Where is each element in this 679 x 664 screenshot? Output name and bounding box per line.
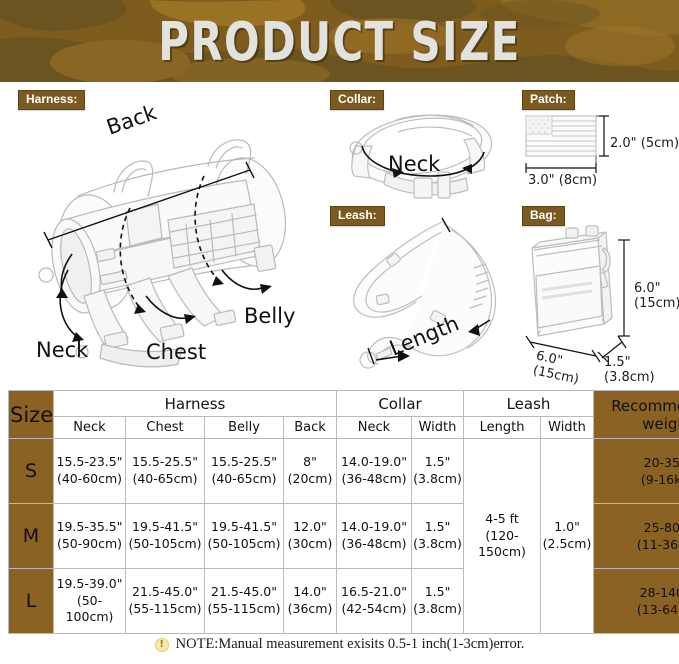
value-line1: 21.5-45.0" — [211, 584, 277, 599]
cell-leash-length: 4-5 ft (120-150cm) — [464, 439, 541, 634]
diagram-area: Harness: — [0, 82, 679, 385]
cell-l-harness-back: 14.0" (36cm) — [284, 569, 337, 634]
table-group-header-row: Size Harness Collar Leash Recommended we… — [9, 391, 679, 417]
value-line1: 1.5" — [425, 454, 451, 469]
cell-m-harness-chest: 19.5-41.5" (50-105cm) — [126, 504, 205, 569]
cell-m-collar-neck: 14.0-19.0" (36-48cm) — [337, 504, 412, 569]
value-line1: 14.0" — [293, 584, 327, 599]
value-line2: (20cm) — [288, 471, 333, 486]
collar-neck-callout: Neck — [388, 152, 440, 176]
cell-m-weight: 25-80lb (11-36kg) — [594, 504, 679, 569]
cell-s-harness-belly: 15.5-25.5" (40-65cm) — [205, 439, 284, 504]
patch-panel: Patch: — [522, 90, 674, 200]
weight-header-line2: weight — [642, 415, 679, 433]
page-header: PRODUCT SIZE — [0, 0, 679, 82]
bag-depth-dim: 1.5" (3.8cm) — [604, 356, 655, 386]
bag-depth-line2: (3.8cm) — [604, 370, 655, 385]
subheader-harness-back: Back — [284, 417, 337, 439]
cell-m-harness-back: 12.0" (30cm) — [284, 504, 337, 569]
bag-height-line1: 6.0" — [634, 281, 661, 296]
value-line2: (36cm) — [288, 601, 333, 616]
value-line1: 15.5-25.5" — [132, 454, 198, 469]
value-line1: 14.0-19.0" — [341, 519, 407, 534]
size-table: Size Harness Collar Leash Recommended we… — [8, 390, 679, 634]
cell-m-harness-belly: 19.5-41.5" (50-105cm) — [205, 504, 284, 569]
value-line2: (42-54cm) — [341, 601, 406, 616]
weight-header-line1: Recommended — [611, 397, 679, 415]
cell-l-weight: 28-140lb (13-64kg) — [594, 569, 679, 634]
table-row: S 15.5-23.5" (40-60cm) 15.5-25.5" (40-65… — [9, 439, 679, 504]
group-harness: Harness — [54, 391, 337, 417]
patch-height-dim: 2.0" (5cm) — [610, 137, 679, 152]
cell-l-harness-belly: 21.5-45.0" (55-115cm) — [205, 569, 284, 634]
value-line1: 15.5-25.5" — [211, 454, 277, 469]
cell-l-collar-width: 1.5" (3.8cm) — [412, 569, 464, 634]
note-text: NOTE:Manual measurement exisits 0.5-1 in… — [176, 636, 525, 653]
row-size-l: L — [9, 569, 54, 634]
value-line2: (55-115cm) — [128, 601, 201, 616]
group-collar: Collar — [337, 391, 464, 417]
value-line2: (40-65cm) — [132, 471, 197, 486]
value-line1: 4-5 ft — [485, 511, 518, 526]
subheader-leash-width: Width — [541, 417, 594, 439]
value-line2: (36-48cm) — [341, 536, 406, 551]
row-size-s: S — [9, 439, 54, 504]
value-line1: 20-35lb — [644, 455, 679, 470]
value-line1: 19.5-39.0" — [57, 576, 123, 591]
bag-width-line2: (15cm) — [532, 363, 581, 387]
harness-illustration — [18, 100, 318, 375]
bag-panel: Bag: — [522, 206, 677, 376]
bag-depth-line1: 1.5" — [604, 355, 631, 370]
subheader-collar-neck: Neck — [337, 417, 412, 439]
value-line1: 1.5" — [425, 519, 451, 534]
value-line2: (36-48cm) — [341, 471, 406, 486]
value-line1: 1.5" — [425, 584, 451, 599]
warning-icon: ! — [155, 638, 169, 652]
value-line1: 25-80lb — [644, 520, 679, 535]
value-line1: 14.0-19.0" — [341, 454, 407, 469]
note-row: ! NOTE:Manual measurement exisits 0.5-1 … — [0, 636, 679, 653]
value-line1: 19.5-41.5" — [132, 519, 198, 534]
value-line1: 28-140lb — [640, 585, 679, 600]
harness-neck-callout: Neck — [36, 338, 88, 362]
value-line2: (11-36kg) — [637, 537, 679, 552]
value-line1: 19.5-35.5" — [57, 519, 123, 534]
cell-l-harness-neck: 19.5-39.0" (50-100cm) — [54, 569, 126, 634]
cell-m-harness-neck: 19.5-35.5" (50-90cm) — [54, 504, 126, 569]
value-line1: 1.0" — [554, 519, 580, 534]
header-recommended-weight: Recommended weight — [594, 391, 679, 439]
collar-panel: Collar: Neck — [330, 90, 510, 200]
table-subheader-row: Neck Chest Belly Back Neck Width Length … — [9, 417, 679, 439]
subheader-harness-chest: Chest — [126, 417, 205, 439]
value-line2: (13-64kg) — [637, 602, 679, 617]
value-line2: (50-90cm) — [57, 536, 122, 551]
subheader-collar-width: Width — [412, 417, 464, 439]
patch-width-dim: 3.0" (8cm) — [528, 174, 597, 189]
bag-height-dim: 6.0" (15cm) — [634, 282, 679, 312]
value-line2: (50-105cm) — [207, 536, 280, 551]
size-table-container: Size Harness Collar Leash Recommended we… — [8, 390, 671, 634]
value-line1: 15.5-23.5" — [57, 454, 123, 469]
harness-belly-callout: Belly — [244, 304, 295, 328]
value-line2: (120-150cm) — [478, 528, 526, 560]
value-line2: (40-60cm) — [57, 471, 122, 486]
cell-s-collar-neck: 14.0-19.0" (36-48cm) — [337, 439, 412, 504]
subheader-leash-length: Length — [464, 417, 541, 439]
value-line1: 12.0" — [293, 519, 327, 534]
value-line2: (3.8cm) — [413, 471, 462, 486]
header-size: Size — [9, 391, 54, 439]
value-line2: (55-115cm) — [207, 601, 280, 616]
row-size-m: M — [9, 504, 54, 569]
cell-s-harness-chest: 15.5-25.5" (40-65cm) — [126, 439, 205, 504]
leash-panel: Leash: — [330, 206, 515, 371]
page-title: PRODUCT SIZE — [24, 0, 655, 82]
value-line2: (3.8cm) — [413, 601, 462, 616]
value-line2: (9-16kg) — [641, 472, 679, 487]
bag-height-line2: (15cm) — [634, 296, 679, 311]
value-line2: (50-100cm) — [66, 593, 114, 625]
cell-m-collar-width: 1.5" (3.8cm) — [412, 504, 464, 569]
value-line1: 21.5-45.0" — [132, 584, 198, 599]
value-line1: 19.5-41.5" — [211, 519, 277, 534]
cell-s-collar-width: 1.5" (3.8cm) — [412, 439, 464, 504]
value-line2: (3.8cm) — [413, 536, 462, 551]
patch-label: Patch: — [522, 90, 575, 110]
value-line2: (30cm) — [288, 536, 333, 551]
value-line2: (50-105cm) — [128, 536, 201, 551]
cell-s-harness-back: 8" (20cm) — [284, 439, 337, 504]
cell-l-collar-neck: 16.5-21.0" (42-54cm) — [337, 569, 412, 634]
value-line2: (2.5cm) — [543, 536, 592, 551]
harness-chest-callout: Chest — [146, 340, 206, 364]
harness-panel: Harness: — [18, 90, 318, 375]
group-leash: Leash — [464, 391, 594, 417]
value-line1: 16.5-21.0" — [341, 584, 407, 599]
value-line2: (40-65cm) — [211, 471, 276, 486]
cell-leash-width: 1.0" (2.5cm) — [541, 439, 594, 634]
subheader-harness-neck: Neck — [54, 417, 126, 439]
cell-s-weight: 20-35lb (9-16kg) — [594, 439, 679, 504]
cell-s-harness-neck: 15.5-23.5" (40-60cm) — [54, 439, 126, 504]
cell-l-harness-chest: 21.5-45.0" (55-115cm) — [126, 569, 205, 634]
value-line1: 8" — [303, 454, 317, 469]
subheader-harness-belly: Belly — [205, 417, 284, 439]
